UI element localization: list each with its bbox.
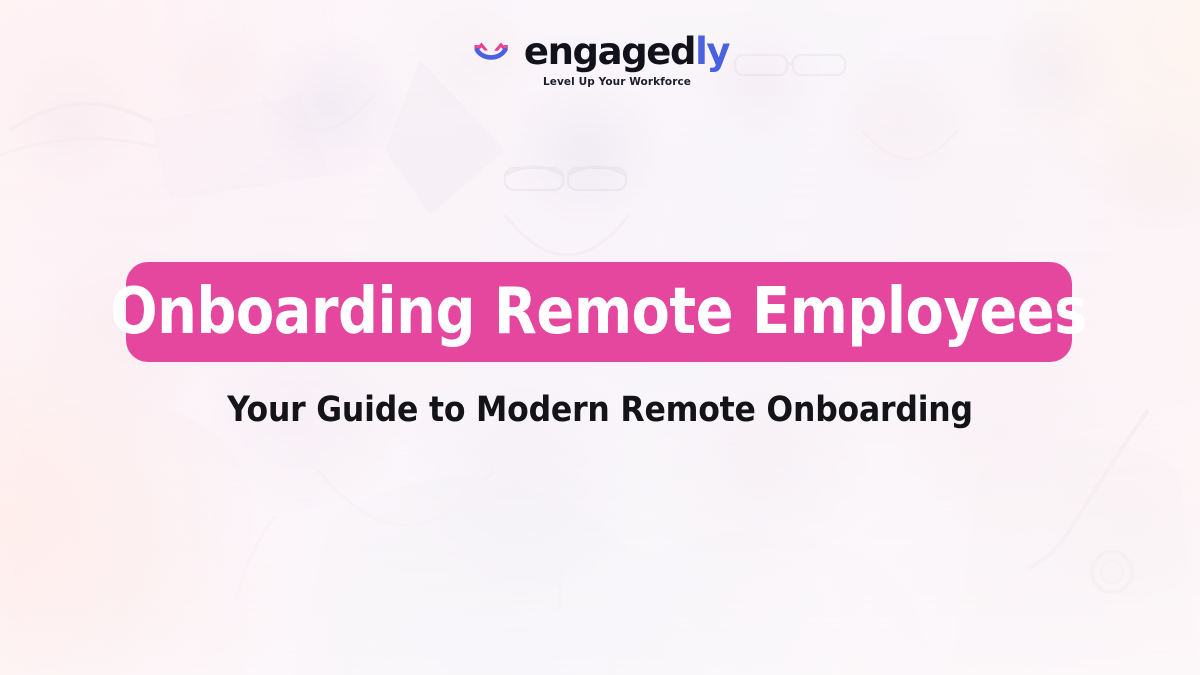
brand-tagline: Level Up Your Workforce [543,76,691,88]
engagedly-smile-arrows-icon [471,37,515,67]
hero-title-banner: Onboarding Remote Employees [126,262,1072,362]
hero-title: Onboarding Remote Employees [111,280,1088,344]
brand-logo-row: engagedly [471,33,729,70]
hero-subtitle: Your Guide to Modern Remote Onboarding [227,390,973,430]
brand-wordmark: engagedly [524,33,729,70]
brand-wordmark-accent: ly [695,30,729,73]
brand-wordmark-primary: engaged [524,30,695,73]
slide-content: engagedly Level Up Your Workforce Onboar… [0,0,1200,675]
hero-subtitle-wrap: Your Guide to Modern Remote Onboarding [0,389,1200,433]
brand-logo-lockup: engagedly Level Up Your Workforce [0,33,1200,88]
presentation-slide: engagedly Level Up Your Workforce Onboar… [0,0,1200,675]
